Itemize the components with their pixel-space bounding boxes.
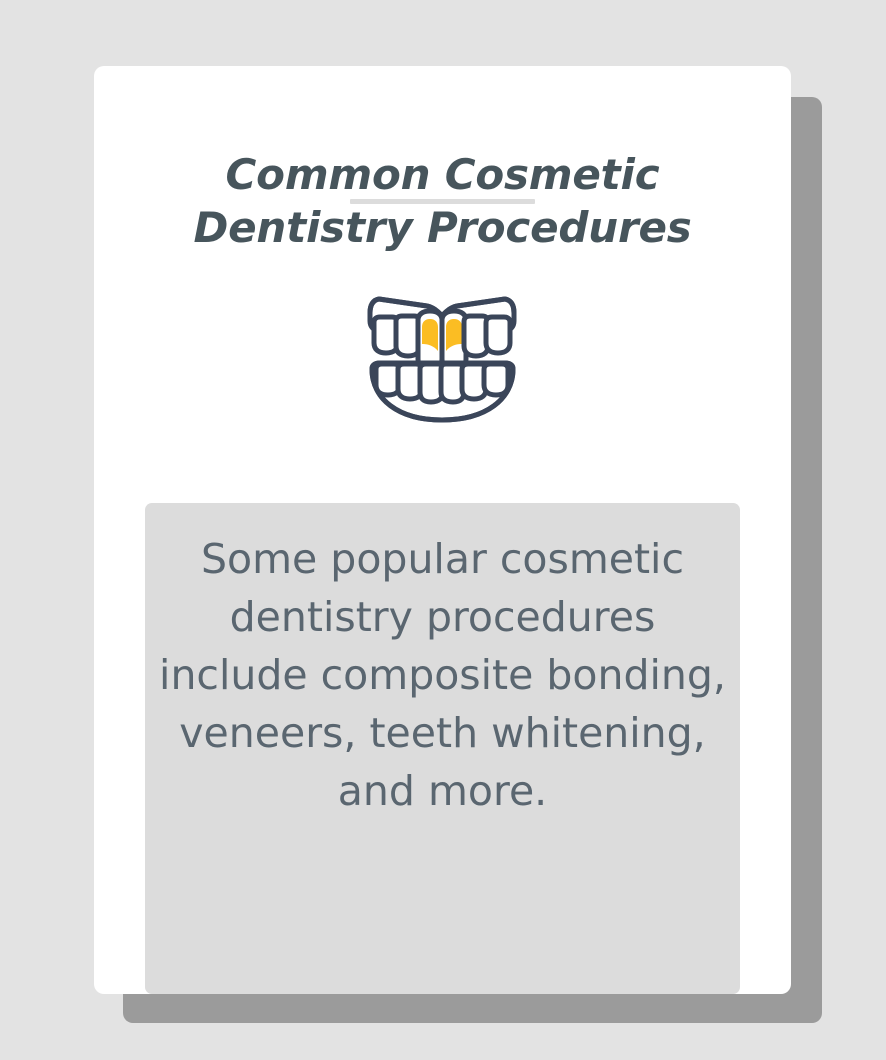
content-card: Common Cosmetic Dentistry Procedures [94,66,791,994]
description-panel: Some popular cosmetic dentistry procedur… [145,503,740,994]
description-text: Some popular cosmetic dentistry procedur… [145,530,740,820]
teeth-dentures-icon [364,281,521,426]
title-divider [350,199,535,204]
slide-stage: Common Cosmetic Dentistry Procedures [0,0,886,1060]
